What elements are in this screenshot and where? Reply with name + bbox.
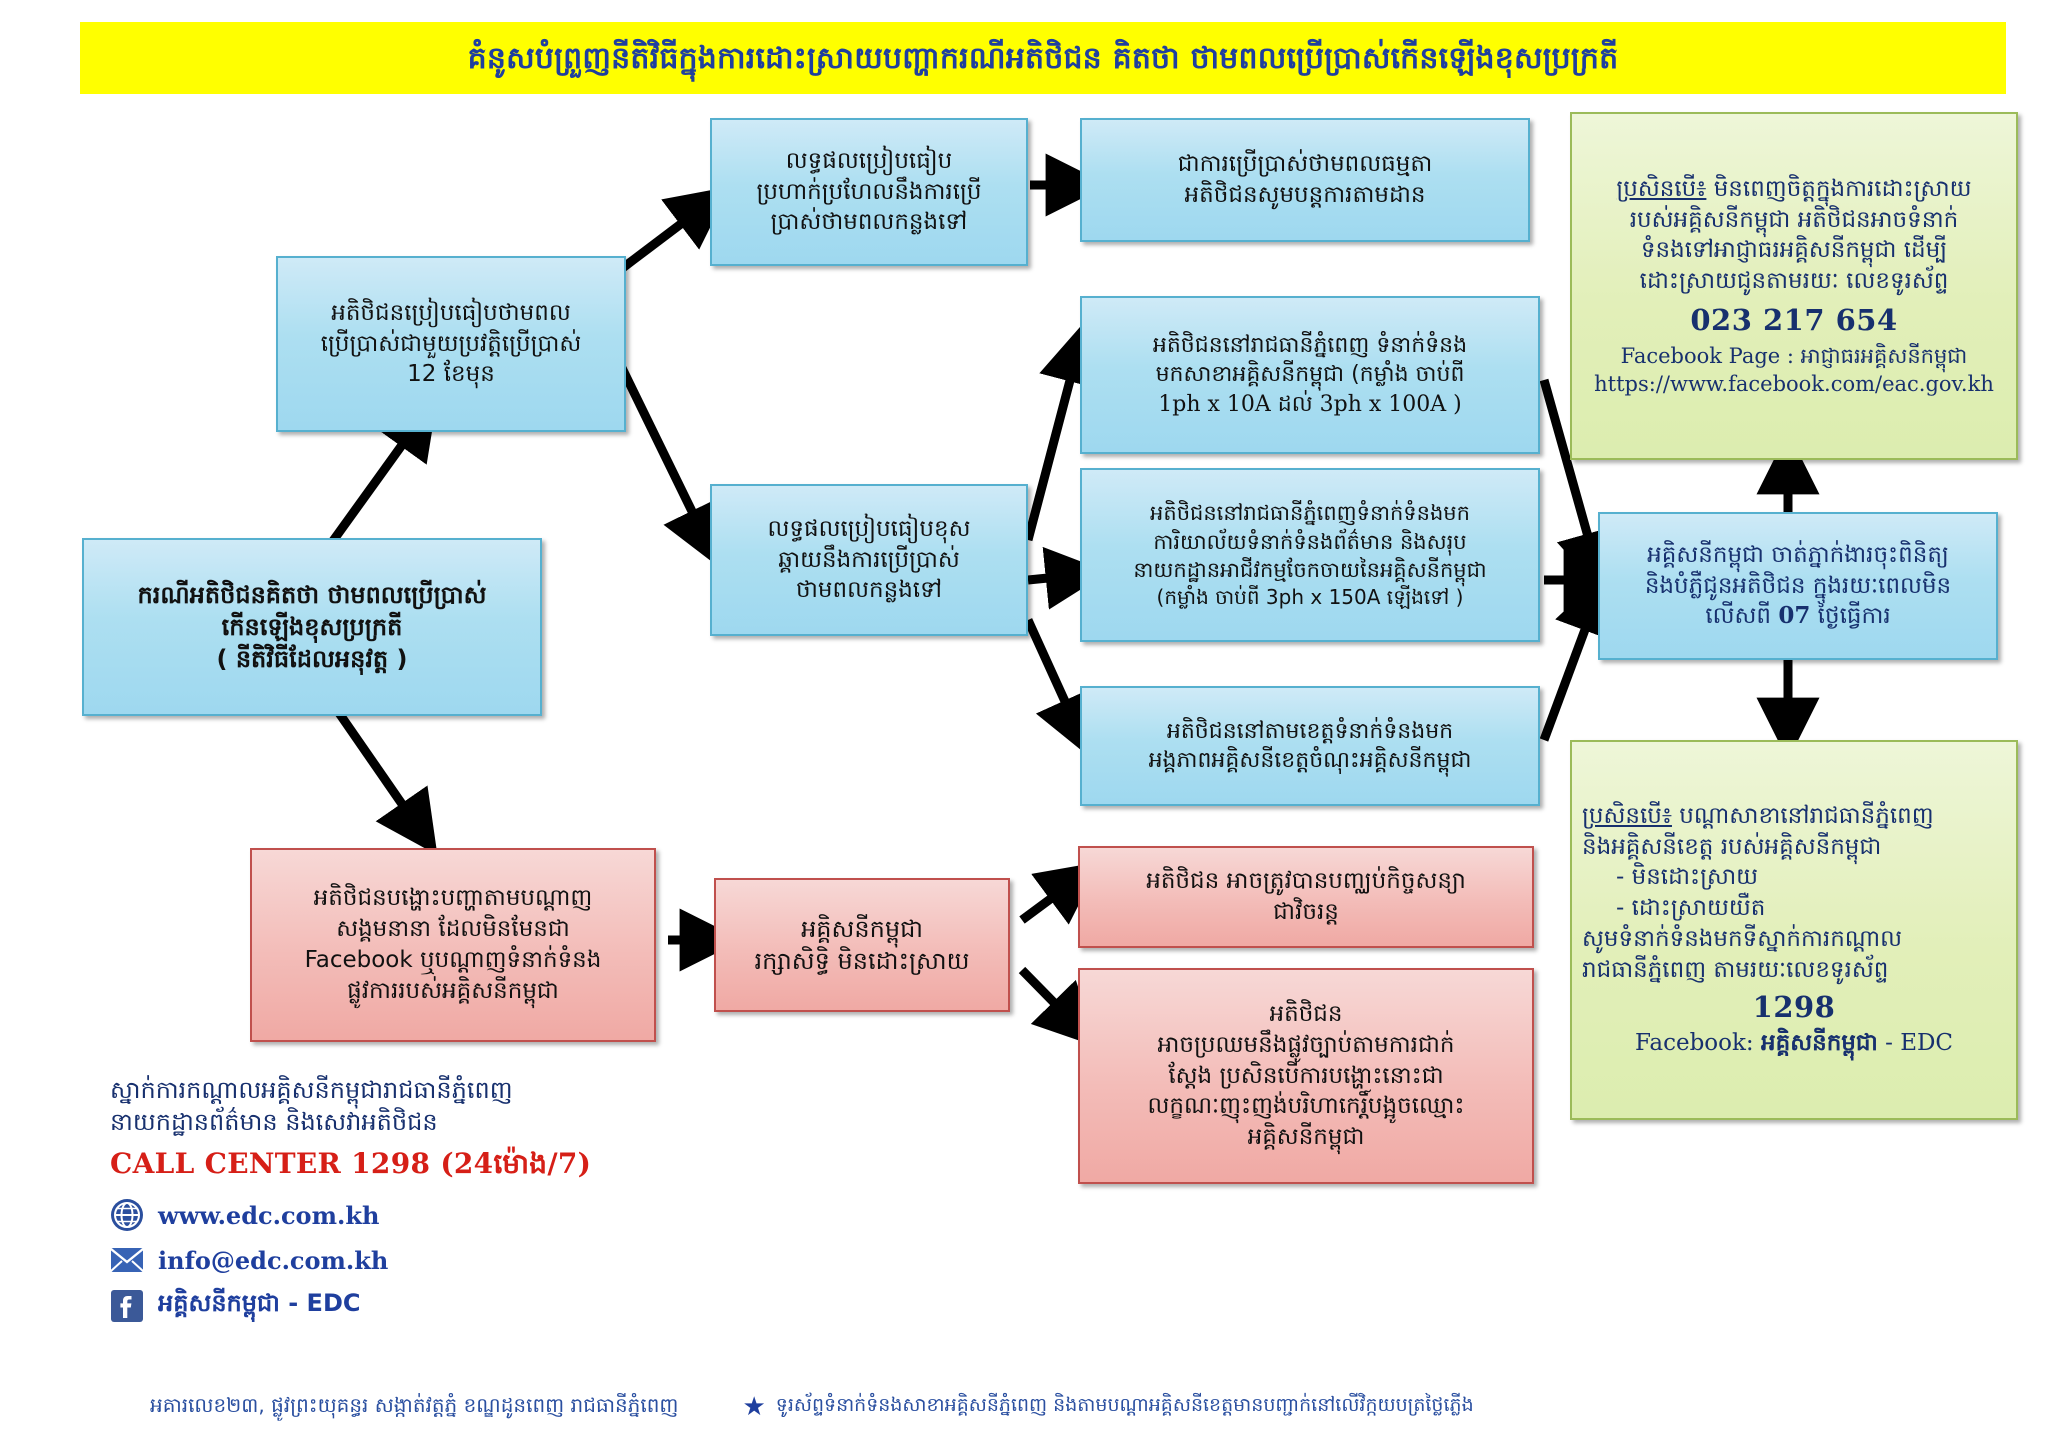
box-eac-line1-rest: មិនពេញចិត្តក្នុងការដោះស្រាយ: [1706, 176, 1971, 202]
box-start-line3: ( នីតិវិធីដែលអនុវត្ត ): [94, 643, 530, 675]
box-escalate-phone: 1298: [1582, 988, 2006, 1027]
facebook-suffix: - EDC: [280, 1289, 361, 1317]
box-compare-line2: ប្រើប្រាស់ជាមួយប្រវត្តិប្រើប្រាស់: [288, 329, 614, 360]
box-different-line3: ថាមពលកន្លងទៅ: [722, 575, 1016, 606]
facebook-icon: [110, 1289, 144, 1323]
box-compare-12months: អតិថិជនប្រៀបធៀបថាមពល ប្រើប្រាស់ជាមួយប្រវ…: [276, 256, 626, 432]
box-phnompenh-branch: អតិថិជននៅរាជធានីភ្នំពេញ ទំនាក់ទំនង មកសាខ…: [1080, 296, 1540, 454]
arrow-different-to-ppoffice: [1028, 575, 1078, 580]
box-phnompenh-head-office: អតិថិជននៅរាជធានីភ្នំពេញទំនាក់ទំនងមក ការិ…: [1080, 468, 1540, 642]
box-rights-line1: អគ្គិសនីកម្ពុជា: [726, 913, 998, 945]
box-social-line4: ផ្លូវការរបស់អគ្គិសនីកម្ពុជា: [262, 976, 644, 1007]
box-inspect-days: 07: [1778, 602, 1810, 629]
box-ppbranch-line3: 1ph x 10A ដល់ 3ph x 100A ): [1092, 390, 1528, 419]
box-inspect-line2: និងបំភ្លឺជូនអតិថិជន ក្នុងរយៈពេលមិន: [1610, 571, 1986, 602]
box-eac-escalation-note: ប្រសិនបើ៖ មិនពេញចិត្តក្នុងការដោះស្រាយ រប…: [1570, 112, 2018, 460]
box-ppoffice-line4: (កម្លាំង ចាប់ពី 3ph x 150A ឡើងទៅ ): [1092, 584, 1528, 611]
box-result-similar: លទ្ធផលប្រៀបធៀប ប្រហាក់ប្រហែលនឹងការប្រើ ប…: [710, 118, 1028, 266]
contact-block: ស្នាក់ការកណ្ដាលអគ្គិសនីកម្ពុជារាជធានីភ្ន…: [110, 1075, 830, 1323]
box-normal-usage: ជាការប្រើប្រាស់ថាមពលធម្មតា អតិថិជនសូមបន្…: [1080, 118, 1530, 242]
footer-row: អគារលេខ២៣, ផ្លូវព្រះយុគន្ធរ សង្កាត់វត្តភ…: [150, 1392, 2010, 1422]
box-escalate-bullet1: - មិនដោះស្រាយ: [1582, 862, 2006, 893]
box-province-unit: អតិថិជននៅតាមខេត្តទំនាក់ទំនងមក អង្គភាពអគ្…: [1080, 686, 1540, 806]
star-icon: ★: [742, 1394, 765, 1420]
page-title-banner: គំនូសបំព្រួញនីតិវិធីក្នុងការដោះស្រាយបញ្ហ…: [80, 22, 2006, 94]
box-contract-line2: ជាវិចរន្ត: [1090, 897, 1522, 928]
box-ppbranch-line1: អតិថិជននៅរាជធានីភ្នំពេញ ទំនាក់ទំនង: [1092, 331, 1528, 360]
box-legal-line3: ស្ដែង ប្រសិនបើការបង្ហោះនោះជា: [1090, 1061, 1522, 1092]
contact-line2: នាយកដ្ឋានព័ត៌មាន និងសេវាអតិថិជន: [110, 1107, 830, 1139]
box-eac-line3: ទំនងទៅអាជ្ញាធរអគ្គិសនីកម្ពុជា ដើម្បី: [1582, 235, 2006, 266]
box-ppoffice-line3: នាយកដ្ឋានអាជីវកម្មចែកចាយនៃអគ្គិសនីកម្ពុជ…: [1092, 556, 1528, 584]
email-text[interactable]: info@edc.com.kh: [158, 1246, 388, 1275]
box-inspect-line3-post: ថ្ងៃធ្វើការ: [1818, 603, 1891, 629]
envelope-icon: [110, 1243, 144, 1277]
arrow-different-to-ppbranch: [1028, 350, 1078, 540]
box-ppoffice-line2: ការិយាល័យទំនាក់ទំនងព័ត៌មាន និងសរុប: [1092, 528, 1528, 556]
box-legal-line2: អាចប្រឈមនឹងផ្លូវច្បាប់តាមការជាក់: [1090, 1030, 1522, 1061]
box-eac-facebook-page: Facebook Page : អាជ្ញាធរអគ្គិសនីកម្ពុជា: [1582, 342, 2006, 370]
box-ppoffice-line1: អតិថិជននៅរាជធានីភ្នំពេញទំនាក់ទំនងមក: [1092, 499, 1528, 527]
box-social-line1: អតិថិជនបង្ហោះបញ្ហាតាមបណ្ដាញ: [262, 883, 644, 914]
box-escalate-line1: ប្រសិនបើ៖ បណ្ដាសាខានៅរាជធានីភ្នំពេញ: [1582, 801, 2006, 832]
box-legal-consequence: អតិថិជន អាចប្រឈមនឹងផ្លូវច្បាប់តាមការជាក់…: [1078, 968, 1534, 1184]
box-eac-fb-value: អាជ្ញាធរអគ្គិសនីកម្ពុជា: [1801, 344, 1968, 368]
box-start-line1: ករណីអតិថិជនគិតថា ថាមពលប្រើប្រាស់: [94, 579, 530, 611]
box-eac-line2: របស់អគ្គិសនីកម្ពុជា អតិថិជនអាចទំនាក់: [1582, 205, 2006, 236]
box-ppbranch-line2: មកសាខាអគ្គិសនីកម្ពុជា (កម្លាំង ចាប់ពី: [1092, 360, 1528, 389]
box-social-media-complaint: អតិថិជនបង្ហោះបញ្ហាតាមបណ្ដាញ សង្គមនានា ដែ…: [250, 848, 656, 1042]
box-eac-fb-label: Facebook Page :: [1621, 344, 1801, 368]
box-normal-line2: អតិថិជនសូមបន្តការតាមដាន: [1092, 180, 1518, 211]
box-escalate-facebook: Facebook: អគ្គិសនីកម្ពុជា - EDC: [1582, 1028, 2006, 1059]
globe-icon: [110, 1198, 144, 1232]
box-escalate-line1-rest: បណ្ដាសាខានៅរាជធានីភ្នំពេញ: [1672, 803, 1934, 829]
box-similar-line2: ប្រហាក់ប្រហែលនឹងការប្រើ: [722, 177, 1016, 208]
contact-line1: ស្នាក់ការកណ្ដាលអគ្គិសនីកម្ពុជារាជធានីភ្ន…: [110, 1075, 830, 1107]
contact-facebook-row[interactable]: អគ្គិសនីកម្ពុជា - EDC: [110, 1288, 830, 1323]
box-eac-line4: ដោះស្រាយជូនតាមរយៈ លេខទូរស័ព្ទ: [1582, 266, 2006, 297]
facebook-khmer-name: អគ្គិសនីកម្ពុជា: [158, 1289, 280, 1317]
box-normal-line1: ជាការប្រើប្រាស់ថាមពលធម្មតា: [1092, 149, 1518, 180]
box-escalate-line2: និងអគ្គិសនីខេត្ត របស់អគ្គិសនីកម្ពុជា: [1582, 832, 2006, 863]
arrow-start-to-compare: [330, 420, 420, 545]
footer-note: ទូរស័ព្ទទំនាក់ទំនងសាខាអគ្គិសនីភ្នំពេញ និ…: [776, 1393, 1474, 1421]
box-start-case: ករណីអតិថិជនគិតថា ថាមពលប្រើប្រាស់ កើនឡើងខ…: [82, 538, 542, 716]
box-escalate-fb-value: អគ្គិសនីកម្ពុជា: [1761, 1030, 1878, 1056]
arrow-province-to-inspect: [1544, 600, 1596, 740]
box-similar-line1: លទ្ធផលប្រៀបធៀប: [722, 146, 1016, 177]
call-center-line: CALL CENTER 1298 (24ម៉ោង/7): [110, 1146, 830, 1187]
box-eac-line1: ប្រសិនបើ៖ មិនពេញចិត្តក្នុងការដោះស្រាយ: [1582, 174, 2006, 205]
arrow-rights-to-contract: [1022, 880, 1076, 920]
box-similar-line3: ប្រាស់ថាមពលកន្លងទៅ: [722, 207, 1016, 238]
box-escalate-fb-label: Facebook:: [1635, 1030, 1761, 1056]
arrow-start-to-social: [330, 700, 420, 830]
box-escalate-fb-suffix: - EDC: [1878, 1030, 1953, 1056]
box-compare-line3: 12 ខែមុន: [288, 359, 614, 390]
arrow-compare-to-different: [622, 368, 706, 540]
box-different-line1: លទ្ធផលប្រៀបធៀបខុស: [722, 514, 1016, 545]
facebook-text[interactable]: អគ្គិសនីកម្ពុជា - EDC: [158, 1288, 360, 1323]
box-eac-phone: 023 217 654: [1582, 301, 2006, 340]
box-inspect-line3: លើសពី 07 ថ្ងៃធ្វើការ: [1610, 601, 1986, 632]
box-escalate-line3: សូមទំនាក់ទំនងមកទីស្នាក់ការកណ្ដាល: [1582, 924, 2006, 955]
box-edc-reserves-rights: អគ្គិសនីកម្ពុជា រក្សាសិទ្ធិ មិនដោះស្រាយ: [714, 878, 1010, 1012]
box-different-line2: ឆ្គាយនឹងការប្រើប្រាស់: [722, 545, 1016, 576]
diagram-canvas: គំនូសបំព្រួញនីតិវិធីក្នុងការដោះស្រាយបញ្ហ…: [0, 0, 2048, 1448]
box-compare-line1: អតិថិជនប្រៀបធៀបថាមពល: [288, 298, 614, 329]
box-social-line2: សង្គមនានា ដែលមិនមែនជា: [262, 914, 644, 945]
box-escalate-bullet2: - ដោះស្រាយយឺត: [1582, 893, 2006, 924]
box-province-line2: អង្គភាពអគ្គិសនីខេត្តចំណុះអគ្គិសនីកម្ពុជា: [1092, 746, 1528, 775]
arrow-different-to-province: [1028, 620, 1078, 730]
box-escalate-line4: រាជធានីភ្នំពេញ តាមរយៈលេខទូរស័ព្ទ: [1582, 955, 2006, 986]
contact-email-row[interactable]: info@edc.com.kh: [110, 1243, 830, 1277]
arrow-rights-to-legal: [1022, 970, 1076, 1025]
box-start-line2: កើនឡើងខុសប្រក្រតី: [94, 611, 530, 643]
box-province-line1: អតិថិជននៅតាមខេត្តទំនាក់ទំនងមក: [1092, 717, 1528, 746]
box-contract-line1: អតិថិជន អាចត្រូវបានបញ្ឈប់កិច្ចសន្យា: [1090, 866, 1522, 897]
box-legal-line5: អគ្គិសនីកម្ពុជា: [1090, 1122, 1522, 1153]
box-rights-line2: រក្សាសិទ្ធិ មិនដោះស្រាយ: [726, 945, 998, 977]
box-social-line3: Facebook ឬបណ្ដាញទំនាក់ទំនង: [262, 945, 644, 976]
box-edc-inspection: អគ្គិសនីកម្ពុជា ចាត់ភ្នាក់ងារចុះពិនិត្យ …: [1598, 512, 1998, 660]
footer-address: អគារលេខ២៣, ផ្លូវព្រះយុគន្ធរ សង្កាត់វត្តភ…: [150, 1392, 678, 1422]
box-contract-termination: អតិថិជន អាចត្រូវបានបញ្ឈប់កិច្ចសន្យា ជាវិ…: [1078, 846, 1534, 948]
box-legal-line1: អតិថិជន: [1090, 999, 1522, 1030]
box-escalate-label: ប្រសិនបើ៖: [1582, 803, 1672, 829]
box-legal-line4: លក្ខណៈញុះញង់បរិហាកេរ្តិ៍បង្អូចឈ្មោះ: [1090, 1091, 1522, 1122]
contact-website-row[interactable]: www.edc.com.kh: [110, 1198, 830, 1232]
page-title: គំនូសបំព្រួញនីតិវិធីក្នុងការដោះស្រាយបញ្ហ…: [468, 42, 1619, 75]
website-text[interactable]: www.edc.com.kh: [158, 1201, 379, 1230]
arrow-compare-to-similar: [620, 205, 706, 270]
box-edc-hq-escalation-note: ប្រសិនបើ៖ បណ្ដាសាខានៅរាជធានីភ្នំពេញ និងអ…: [1570, 740, 2018, 1120]
box-result-different: លទ្ធផលប្រៀបធៀបខុស ឆ្គាយនឹងការប្រើប្រាស់ …: [710, 484, 1028, 636]
box-eac-label: ប្រសិនបើ៖: [1616, 176, 1706, 202]
box-inspect-line3-pre: លើសពី: [1705, 603, 1771, 629]
box-inspect-line1: អគ្គិសនីកម្ពុជា ចាត់ភ្នាក់ងារចុះពិនិត្យ: [1610, 540, 1986, 571]
box-eac-url[interactable]: https://www.facebook.com/eac.gov.kh: [1582, 370, 2006, 398]
footer-note-wrap: ★ ទូរស័ព្ទទំនាក់ទំនងសាខាអគ្គិសនីភ្នំពេញ …: [742, 1393, 1473, 1421]
